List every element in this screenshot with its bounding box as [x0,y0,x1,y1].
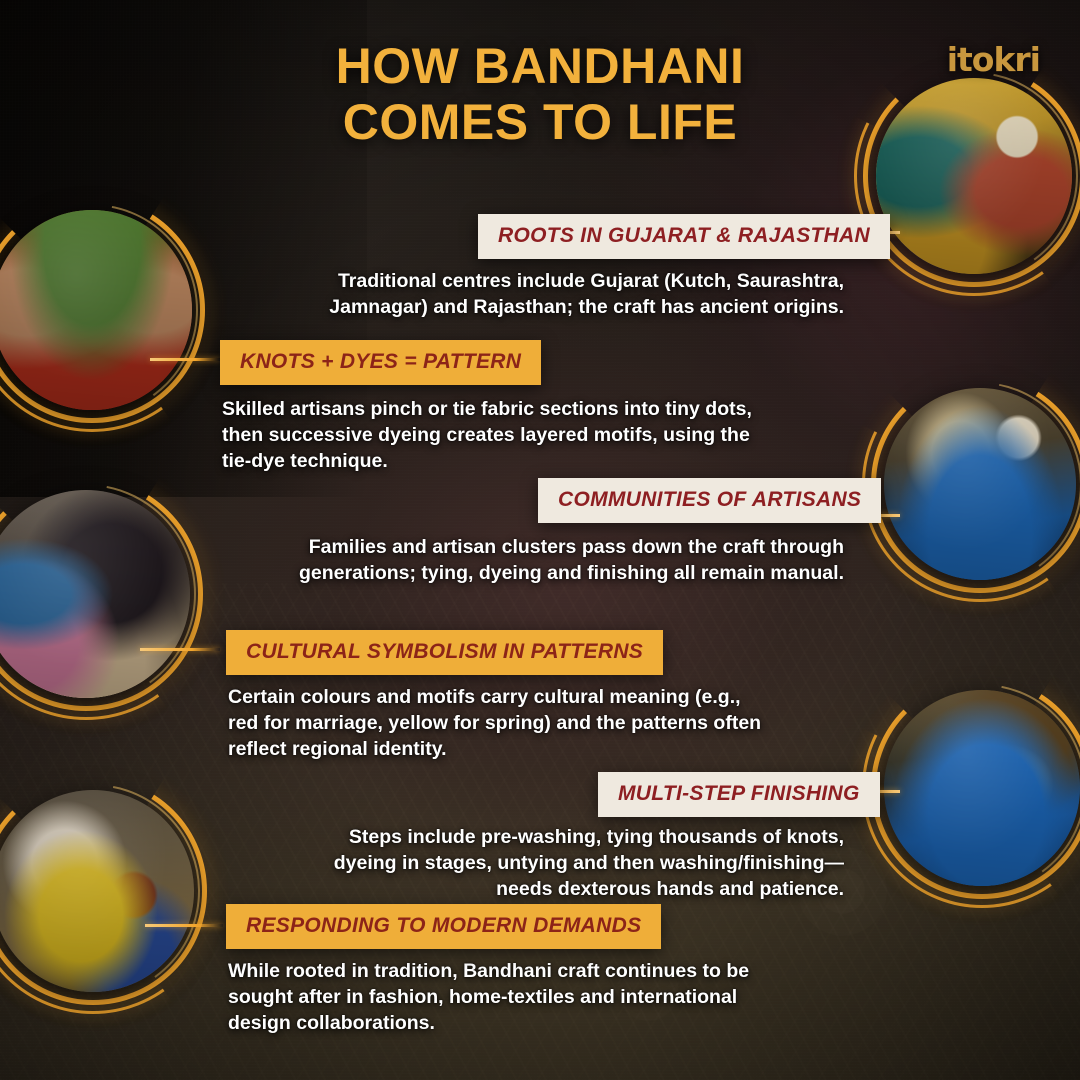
photo-tying-pair [876,78,1072,274]
section-text-knots-dyes: Skilled artisans pinch or tie fabric sec… [222,396,752,474]
photo-seated-woman [0,490,190,698]
section-text-roots: Traditional centres include Gujarat (Kut… [260,268,844,320]
photo-disc [884,690,1080,886]
brand-logo[interactable]: itokri [947,40,1040,79]
section-badge-cultural-symbolism[interactable]: CULTURAL SYMBOLISM IN PATTERNS [226,630,663,675]
photo-shade [876,78,1072,274]
section-badge-roots[interactable]: ROOTS IN GUJARAT & RAJASTHAN [478,214,890,259]
section-text-multi-step-finishing: Steps include pre-washing, tying thousan… [312,824,844,902]
photo-shade [884,388,1076,580]
photo-shade [0,210,192,410]
photo-red-hands [0,210,192,410]
section-text-modern-demands: While rooted in tradition, Bandhani craf… [228,958,784,1036]
photo-disc [0,790,194,992]
photo-shade [0,790,194,992]
photo-shade [0,490,190,698]
photo-disc [884,388,1076,580]
connector-line-knots [150,358,220,361]
photo-dye-vat [884,388,1076,580]
section-text-communities: Families and artisan clusters pass down … [240,534,844,586]
section-badge-communities[interactable]: COMMUNITIES OF ARTISANS [538,478,881,523]
connector-line-cultural [140,648,220,651]
photo-blue-vat [884,690,1080,886]
section-badge-multi-step-finishing[interactable]: MULTI-STEP FINISHING [598,772,880,817]
photo-shade [884,690,1080,886]
photo-disc [0,210,192,410]
photo-disc [0,490,190,698]
infographic-poster: HOW BANDHANI COMES TO LIFE itokri [0,0,1080,1080]
section-badge-modern-demands[interactable]: RESPONDING TO MODERN DEMANDS [226,904,661,949]
connector-line-modern [145,924,223,927]
photo-yellow-skein [0,790,194,992]
section-text-cultural-symbolism: Certain colours and motifs carry cultura… [228,684,768,762]
section-badge-knots-dyes[interactable]: KNOTS + DYES = PATTERN [220,340,541,385]
photo-disc [876,78,1072,274]
